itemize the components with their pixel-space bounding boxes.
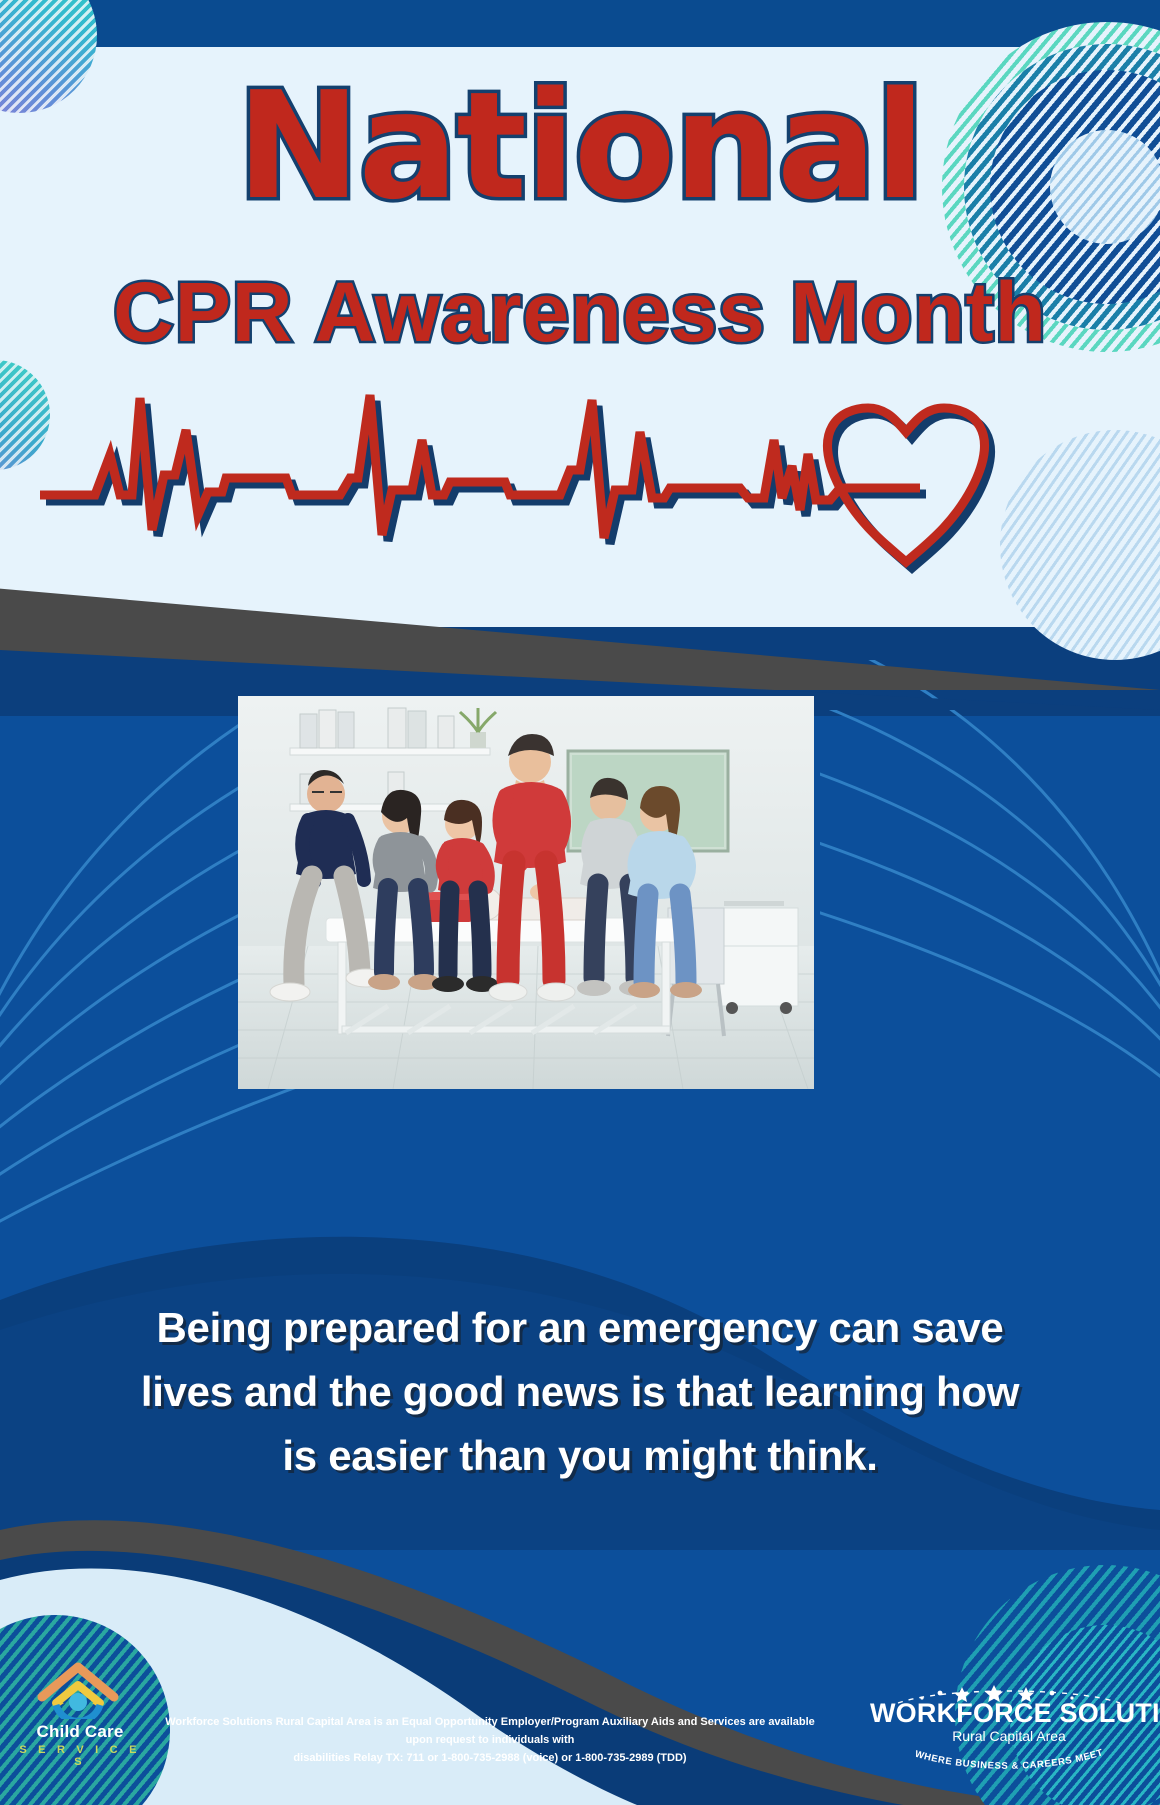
message-line-1: Being prepared for an emergency can save [80,1296,1080,1360]
workforce-solutions-logo: WORKFORCE SOLUTIONS Rural Capital Area W… [870,1685,1148,1777]
child-care-services-logo: Child Care S E R V I C E S [10,1657,150,1777]
poster-title-sub: CPR Awareness Month [0,270,1160,354]
workforce-solutions-region: Rural Capital Area [870,1728,1148,1745]
footer-disclaimer: Workforce Solutions Rural Capital Area i… [165,1713,815,1767]
child-care-logo-name: Child Care [10,1722,150,1742]
message-line-3: is easier than you might think. [80,1424,1080,1488]
message-text: Being prepared for an emergency can save… [80,1296,1080,1488]
footer-disclaimer-line-1: Workforce Solutions Rural Capital Area i… [165,1713,815,1749]
svg-text:WHERE BUSINESS & CAREERS MEET: WHERE BUSINESS & CAREERS MEET [914,1747,1105,1771]
poster-canvas: National CPR Awareness Month [0,0,1160,1805]
child-care-logo-subtitle: S E R V I C E S [10,1744,150,1768]
workforce-solutions-tagline: WHERE BUSINESS & CAREERS MEET [889,1745,1129,1771]
workforce-solutions-title: WORKFORCE SOLUTIONS [870,1699,1148,1728]
heartbeat-ekg-icon [40,370,1000,590]
message-line-2: lives and the good news is that learning… [80,1360,1080,1424]
cpr-training-photo [238,696,814,1089]
house-chevron-person-icon [32,1657,128,1719]
poster-title-main: National [0,72,1160,220]
footer-disclaimer-line-2: disabilities Relay TX: 711 or 1-800-735-… [165,1749,815,1767]
